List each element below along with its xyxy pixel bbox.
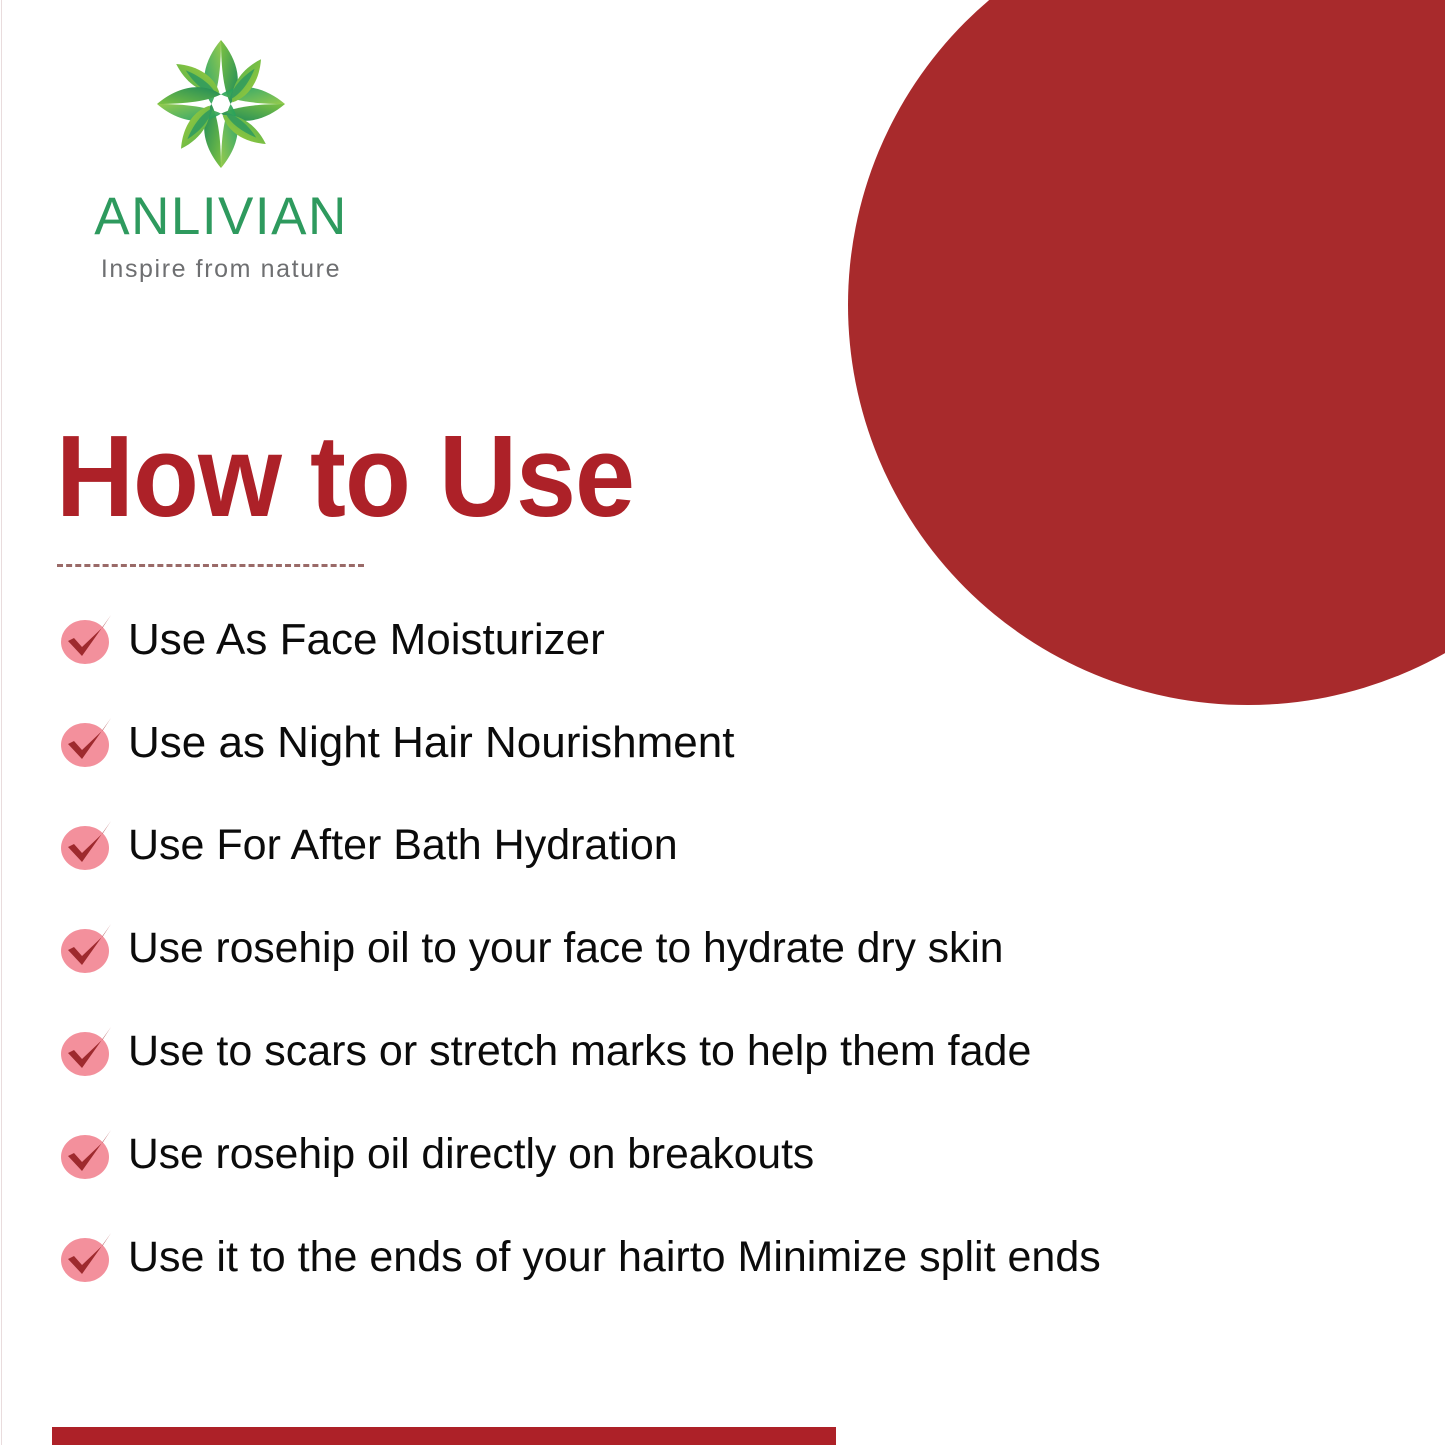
check-mark-icon bbox=[58, 1023, 116, 1081]
list-item: Use to scars or stretch marks to help th… bbox=[58, 1000, 1388, 1103]
leaf-mandala-icon bbox=[137, 24, 305, 184]
list-item: Use it to the ends of your hairto Minimi… bbox=[58, 1206, 1388, 1309]
list-item-label: Use to scars or stretch marks to help th… bbox=[128, 1030, 1031, 1073]
check-mark-icon bbox=[58, 1229, 116, 1287]
list-item-label: Use as Night Hair Nourishment bbox=[128, 721, 734, 765]
brand-block: ANLIVIAN Inspire from nature bbox=[56, 24, 386, 282]
check-mark-icon bbox=[58, 1126, 116, 1184]
brand-name: ANLIVIAN bbox=[56, 190, 386, 243]
how-to-use-poster: ANLIVIAN Inspire from nature How to Use … bbox=[0, 0, 1445, 1445]
list-item: Use rosehip oil directly on breakouts bbox=[58, 1103, 1388, 1206]
list-item: Use As Face Moisturizer bbox=[58, 588, 1388, 691]
check-mark-icon bbox=[58, 817, 116, 875]
how-to-use-list: Use As Face Moisturizer Use as Night Hai… bbox=[58, 588, 1388, 1309]
list-item: Use For After Bath Hydration bbox=[58, 794, 1388, 897]
left-edge-hairline bbox=[1, 0, 2, 1445]
list-item-label: Use As Face Moisturizer bbox=[128, 618, 605, 662]
list-item-label: Use rosehip oil to your face to hydrate … bbox=[128, 927, 1003, 970]
title-dashed-divider bbox=[57, 564, 364, 567]
list-item-label: Use it to the ends of your hairto Minimi… bbox=[128, 1236, 1101, 1279]
list-item-label: Use rosehip oil directly on breakouts bbox=[128, 1133, 814, 1176]
list-item: Use rosehip oil to your face to hydrate … bbox=[58, 897, 1388, 1000]
list-item-label: Use For After Bath Hydration bbox=[128, 824, 678, 867]
brand-tagline: Inspire from nature bbox=[56, 257, 386, 282]
page-title: How to Use bbox=[56, 418, 634, 534]
check-mark-icon bbox=[58, 611, 116, 669]
check-mark-icon bbox=[58, 714, 116, 772]
list-item: Use as Night Hair Nourishment bbox=[58, 691, 1388, 794]
bottom-accent-bar bbox=[52, 1427, 836, 1445]
check-mark-icon bbox=[58, 920, 116, 978]
